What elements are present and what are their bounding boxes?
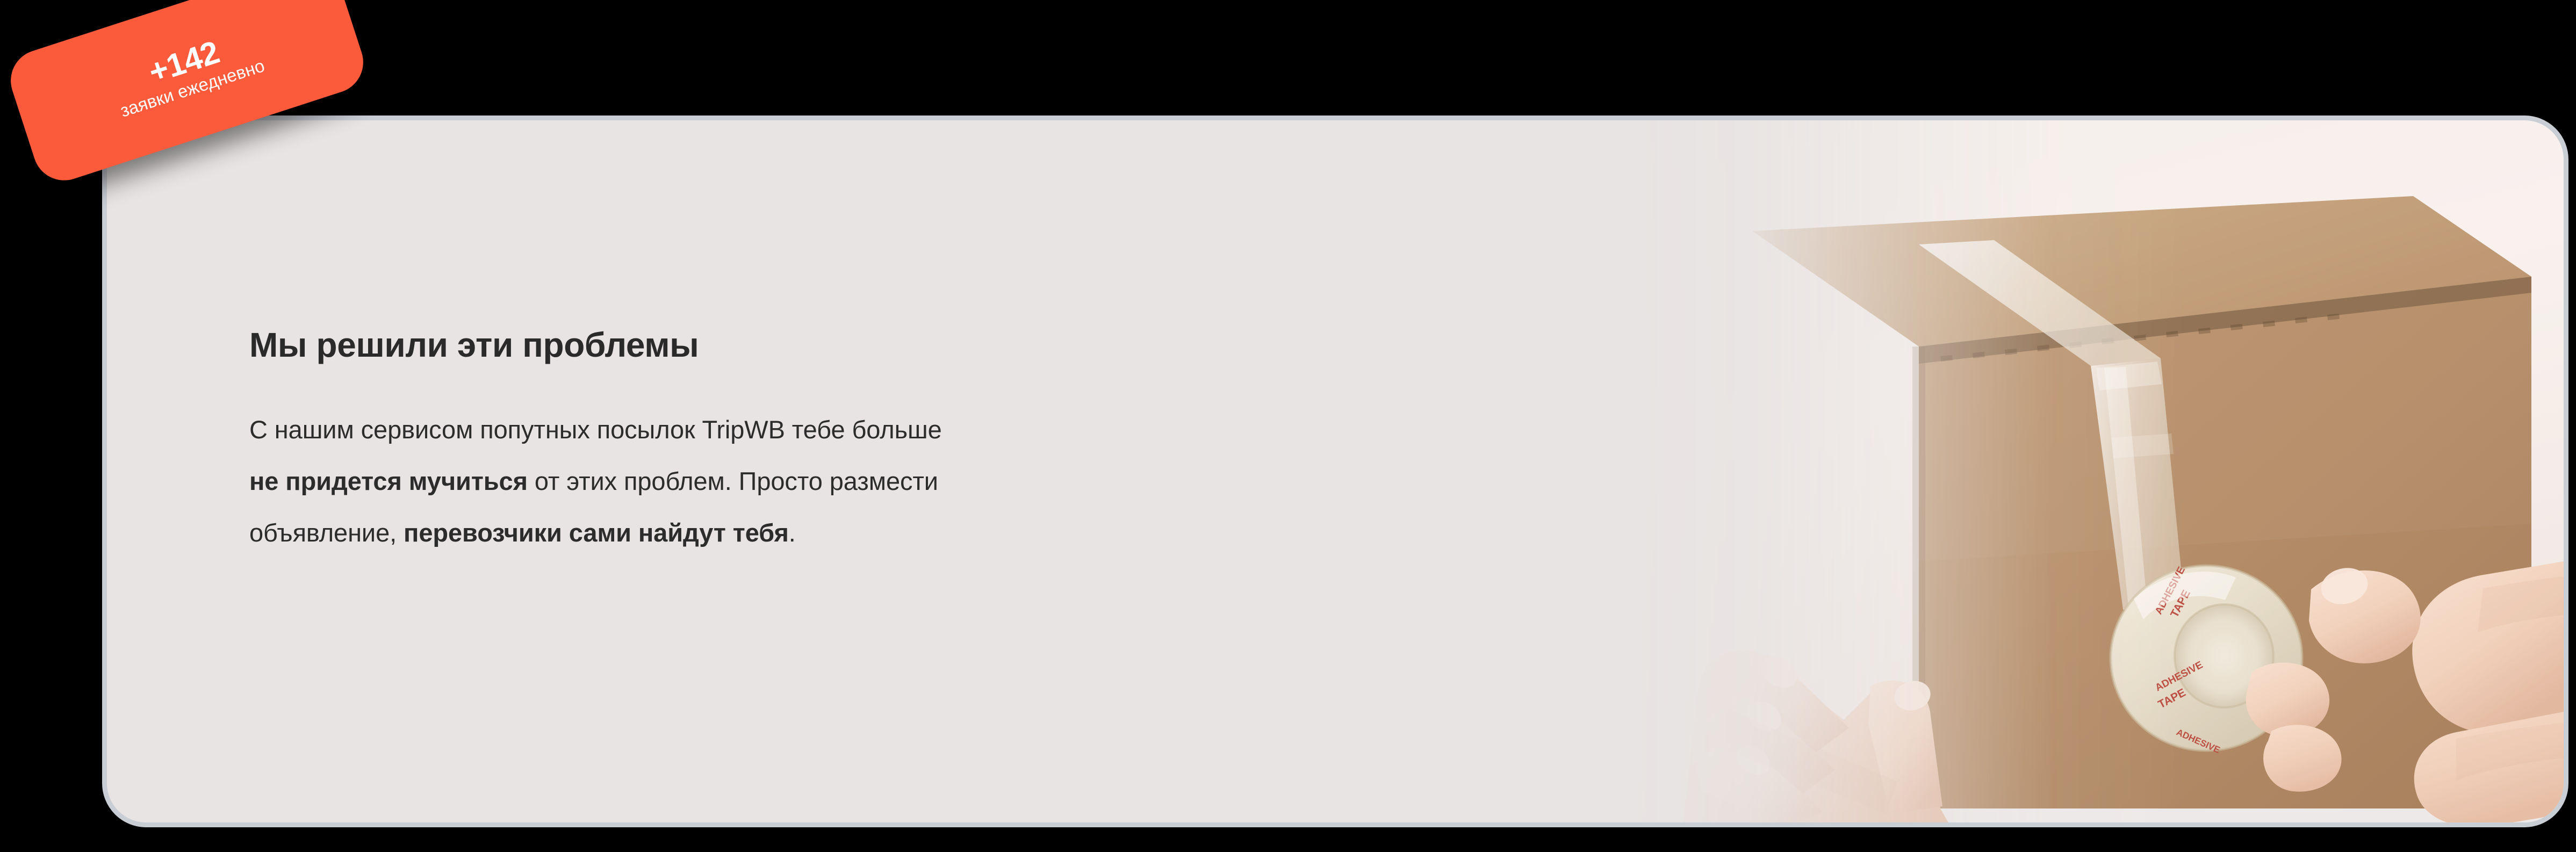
paragraph-line: объявление, перевозчики сами найдут тебя… xyxy=(249,507,1566,559)
paragraph-text: . xyxy=(789,518,796,547)
svg-text:TAPE: TAPE xyxy=(2168,588,2193,619)
paragraph-text: С нашим сервисом попутных посылок TripWB… xyxy=(249,415,942,444)
left-hand xyxy=(1682,649,1951,822)
packing-box-illustration: ADHESIVE TAPE ADHESIVE TAPE ADHESIVE xyxy=(1618,120,2564,822)
paragraph-line: С нашим сервисом попутных посылок TripWB… xyxy=(249,404,1566,456)
paragraph-text: объявление, xyxy=(249,518,404,547)
svg-text:TAPE: TAPE xyxy=(2156,687,2188,711)
promo-card: ADHESIVE TAPE ADHESIVE TAPE ADHESIVE xyxy=(102,115,2568,827)
svg-text:ADHESIVE: ADHESIVE xyxy=(2175,727,2221,755)
paragraph-emphasis: перевозчики сами найдут тебя xyxy=(404,518,789,547)
card-text-block: Мы решили эти проблемы С нашим сервисом … xyxy=(249,327,1566,559)
page-title: Мы решили эти проблемы xyxy=(249,327,1566,363)
right-hand xyxy=(2246,561,2564,822)
svg-text:ADHESIVE: ADHESIVE xyxy=(2153,565,2188,617)
paragraph-line: не придется мучиться от этих проблем. Пр… xyxy=(249,456,1566,507)
svg-text:ADHESIVE: ADHESIVE xyxy=(2153,659,2205,694)
packing-box-photo: ADHESIVE TAPE ADHESIVE TAPE ADHESIVE xyxy=(1618,120,2564,822)
tape-roll: ADHESIVE TAPE ADHESIVE TAPE ADHESIVE xyxy=(2111,565,2302,755)
paragraph-emphasis: не придется мучиться xyxy=(249,467,528,495)
body-paragraph: С нашим сервисом попутных посылок TripWB… xyxy=(249,363,1566,559)
paragraph-text: от этих проблем. Просто размести xyxy=(528,467,938,495)
